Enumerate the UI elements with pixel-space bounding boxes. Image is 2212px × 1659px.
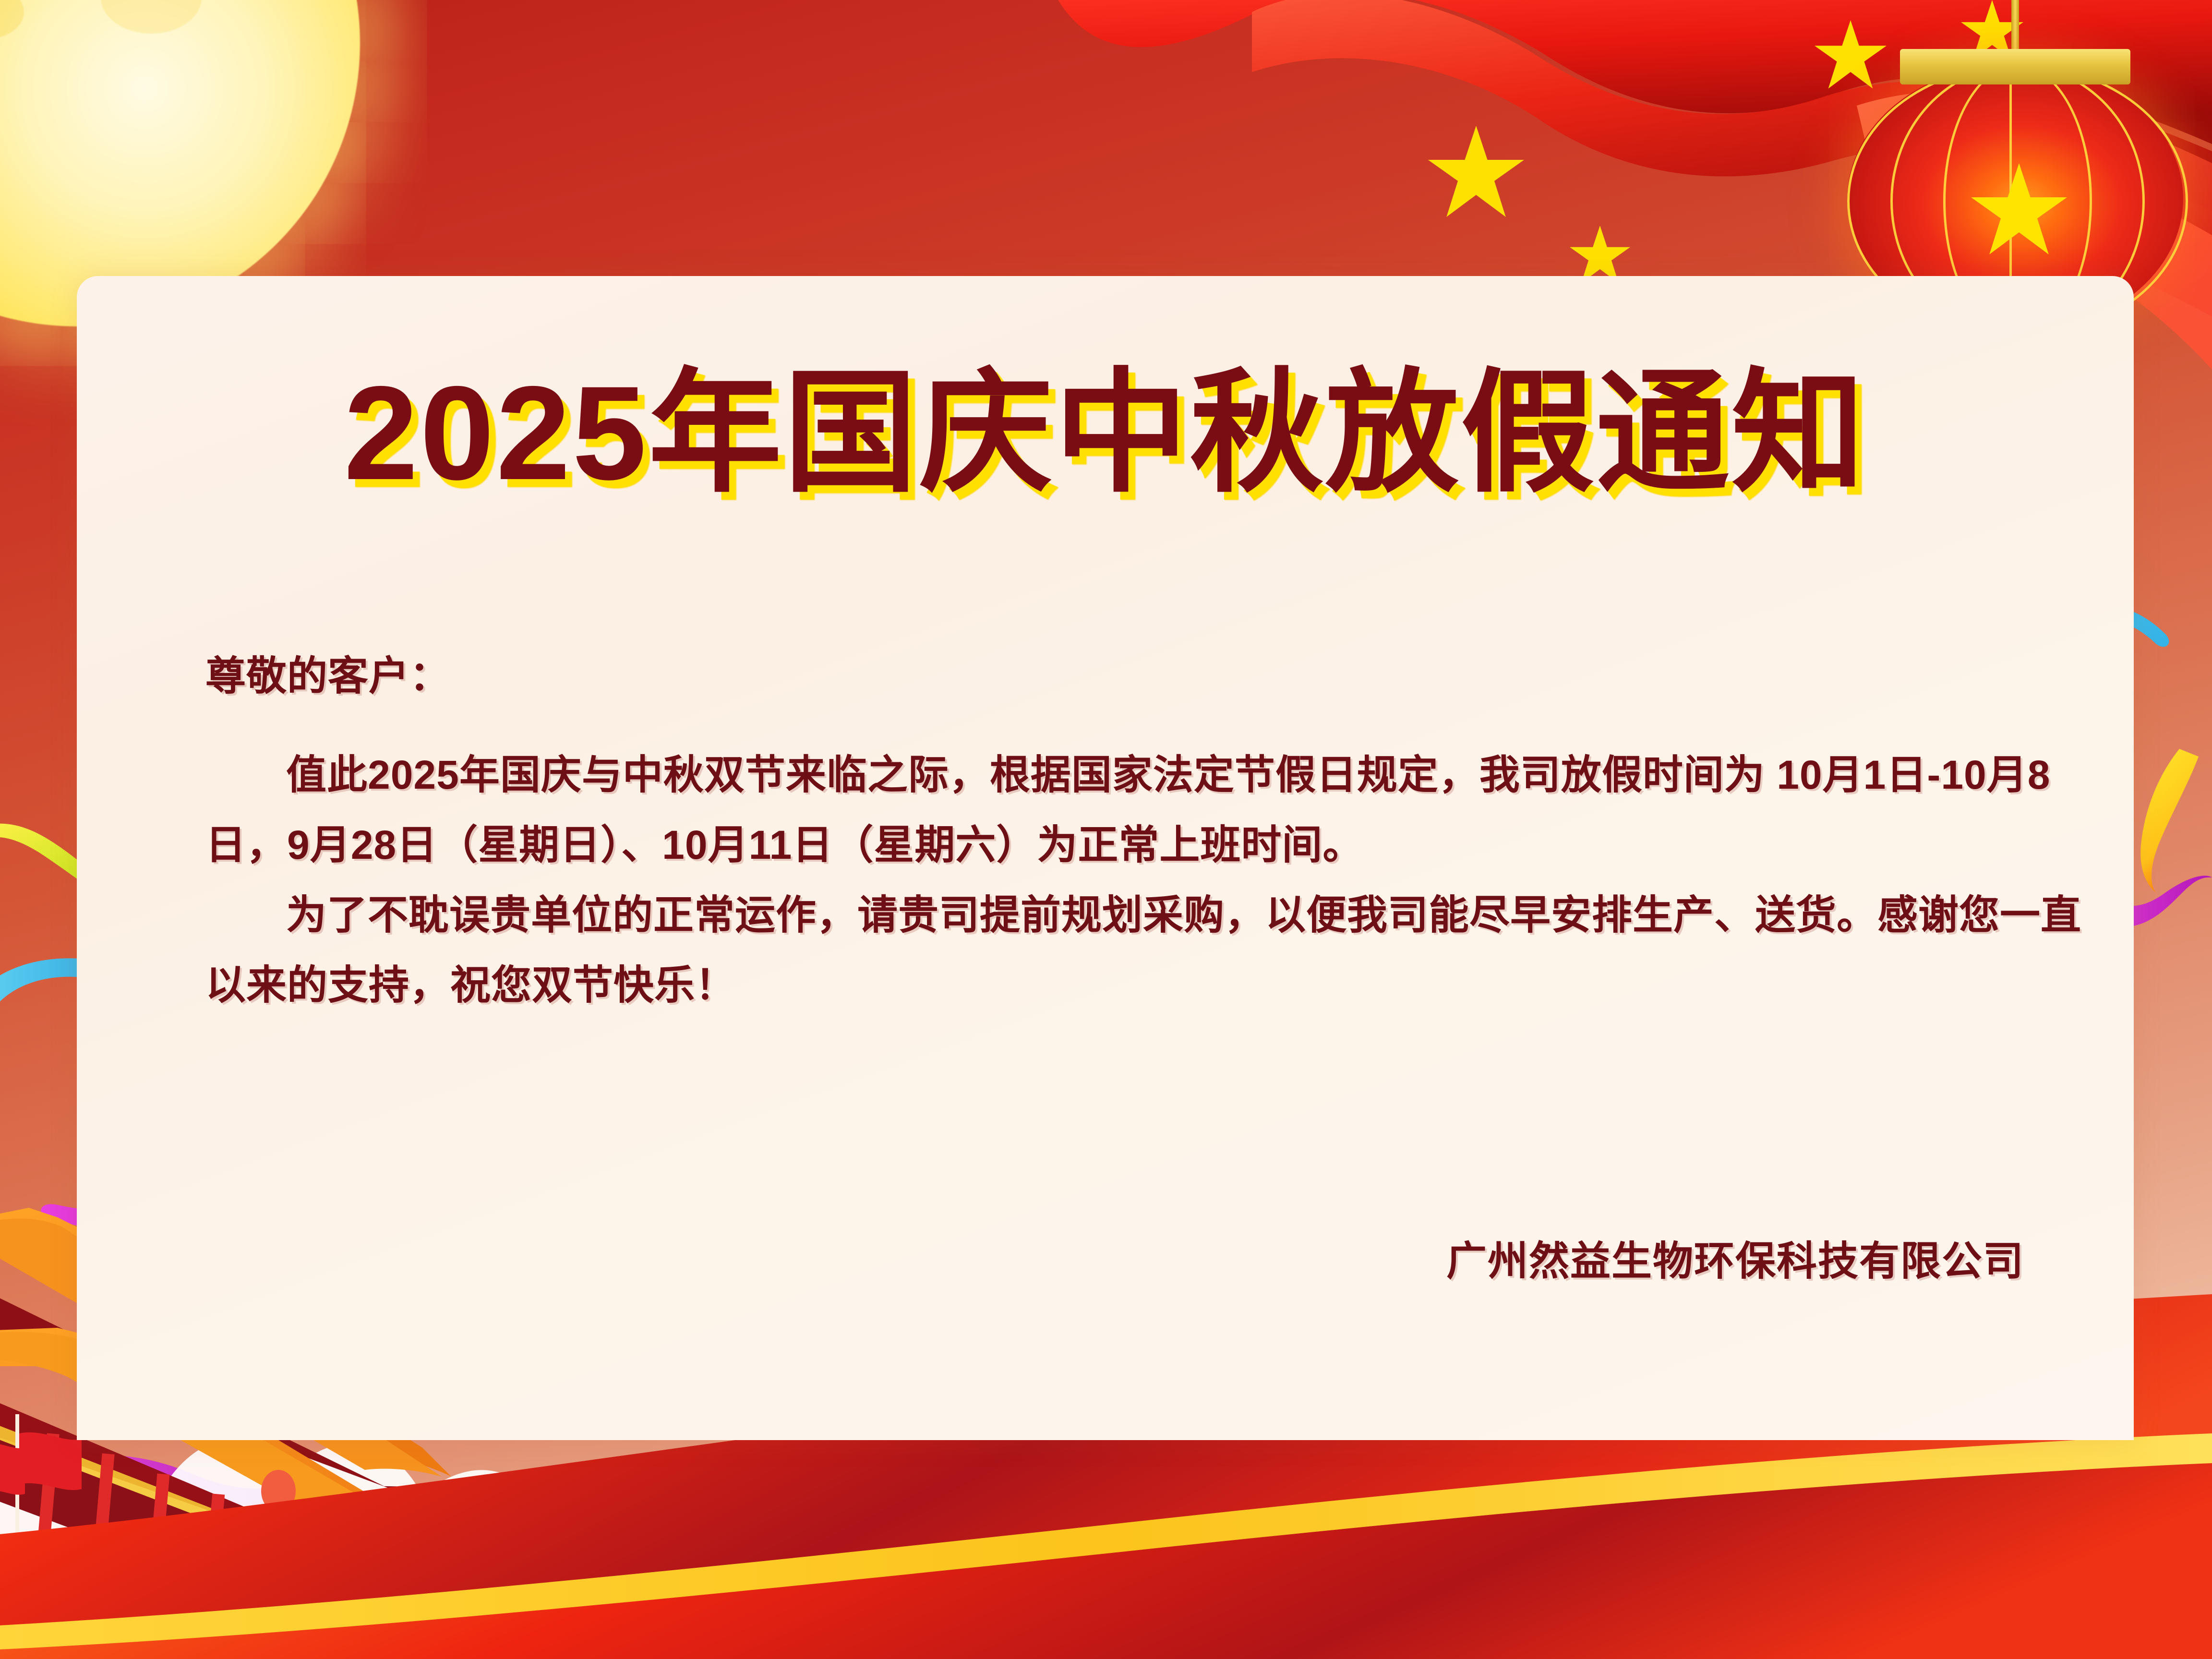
notice-panel: 2025年国庆中秋放假通知 尊敬的客户： 值此2025年国庆与中秋双节来临之际，… <box>77 276 2134 1440</box>
page-title: 2025年国庆中秋放假通知 <box>77 366 2134 500</box>
company-signature: 广州然益生物环保科技有限公司 <box>1446 1229 2024 1287</box>
paragraph-1: 值此2025年国庆与中秋双节来临之际，根据国家法定节假日规定，我司放假时间为 1… <box>205 740 2105 880</box>
notice-body: 尊敬的客户： 值此2025年国庆与中秋双节来临之际，根据国家法定节假日规定，我司… <box>205 641 2105 1020</box>
salutation: 尊敬的客户： <box>205 641 2105 711</box>
paragraph-2: 为了不耽误贵单位的正常运作，请贵司提前规划采购，以便我司能尽早安排生产、送货。感… <box>205 880 2105 1020</box>
